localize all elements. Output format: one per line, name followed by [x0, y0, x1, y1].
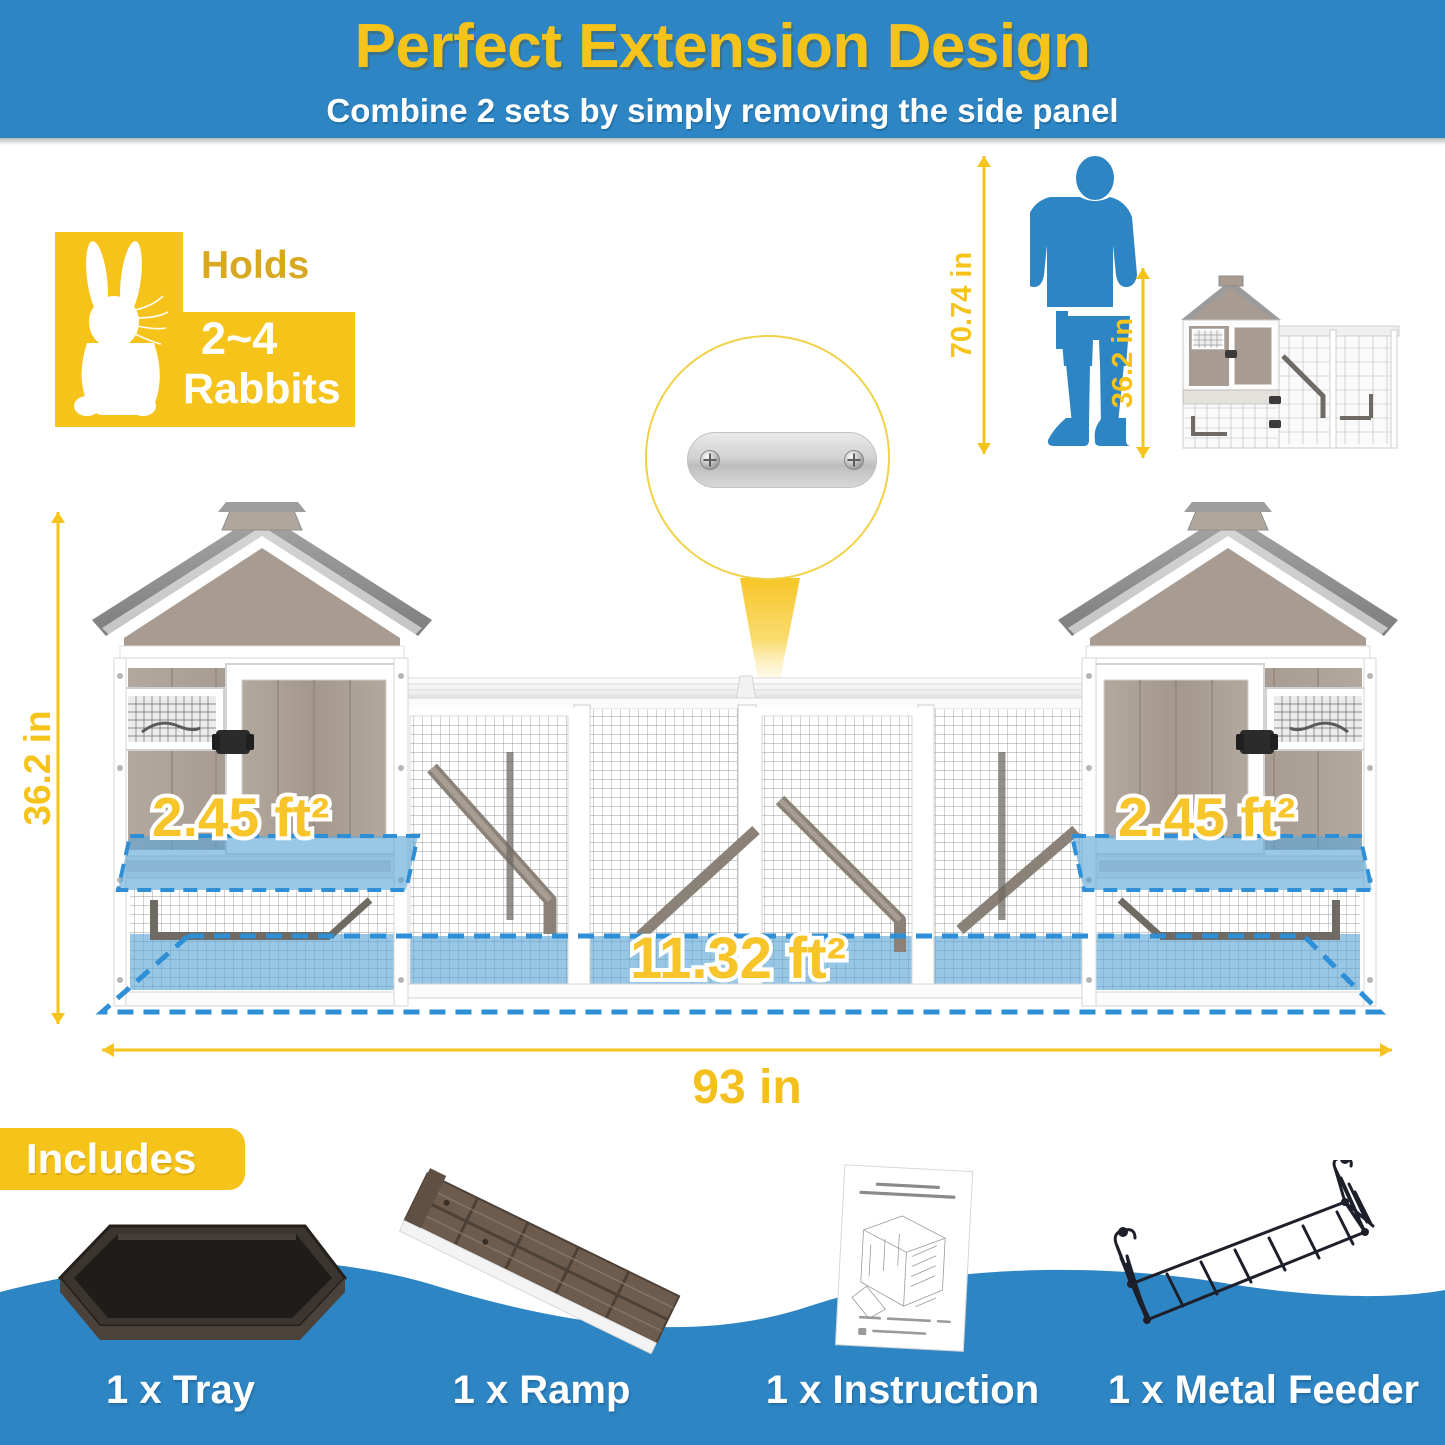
includes-item-ramp: 1 x Ramp [361, 1160, 722, 1445]
hinge-icon [212, 730, 254, 754]
rabbit-silhouette-icon [65, 238, 180, 420]
includes-item-feeder: 1 x Metal Feeder [1083, 1160, 1444, 1445]
includes-label-tray: 1 x Tray [0, 1368, 361, 1413]
product-width-dimension [102, 1040, 1392, 1060]
human-height-label: 70.74 in [946, 252, 979, 358]
page-title: Perfect Extension Design [0, 0, 1445, 78]
human-height-dimension: 70.74 in [962, 156, 1006, 454]
right-area-label: 2.45 ft² [1118, 790, 1295, 845]
includes-list: 1 x Tray [0, 1160, 1445, 1445]
metal-connector-plate-icon [687, 432, 877, 488]
header-shadow [0, 138, 1445, 145]
tray-icon [0, 1160, 361, 1360]
left-house [92, 502, 432, 1006]
badge-count: 2~4 [201, 316, 277, 361]
hutch-height-dimension: 36.2 in [1123, 268, 1163, 458]
hutch-height-label: 36.2 in [1107, 318, 1140, 408]
instruction-sheet-icon [722, 1160, 1083, 1360]
product-height-dimension: 36.2 in [38, 512, 78, 1024]
capacity-badge: Holds 2~4 Rabbits [55, 232, 355, 427]
metal-feeder-icon [1083, 1160, 1444, 1360]
hinge-icon [1236, 730, 1278, 754]
badge-unit-label: Rabbits [183, 368, 341, 411]
right-house [1058, 502, 1398, 1006]
ramp-icon [361, 1160, 722, 1360]
center-area-label: 11.32 ft² [630, 930, 846, 988]
includes-label-feeder: 1 x Metal Feeder [1083, 1368, 1444, 1413]
header-banner: Perfect Extension Design Combine 2 sets … [0, 0, 1445, 138]
scale-comparison: 70.74 in 36.2 in [930, 150, 1410, 470]
screw-icon-left [700, 450, 720, 470]
page-subtitle: Combine 2 sets by simply removing the si… [0, 78, 1445, 127]
product-height-label: 36.2 in [17, 710, 59, 825]
screw-icon-right [844, 450, 864, 470]
includes-item-tray: 1 x Tray [0, 1160, 361, 1445]
includes-item-instruction: 1 x Instruction [722, 1160, 1083, 1445]
product-width-label: 93 in [102, 1060, 1392, 1115]
hutch-thumbnail-icon [1175, 268, 1400, 458]
badge-holds-label: Holds [201, 246, 309, 285]
left-area-label: 2.45 ft² [152, 790, 329, 845]
infographic-root: Perfect Extension Design Combine 2 sets … [0, 0, 1445, 1445]
includes-label-ramp: 1 x Ramp [361, 1368, 722, 1413]
includes-label-instruction: 1 x Instruction [722, 1368, 1083, 1413]
